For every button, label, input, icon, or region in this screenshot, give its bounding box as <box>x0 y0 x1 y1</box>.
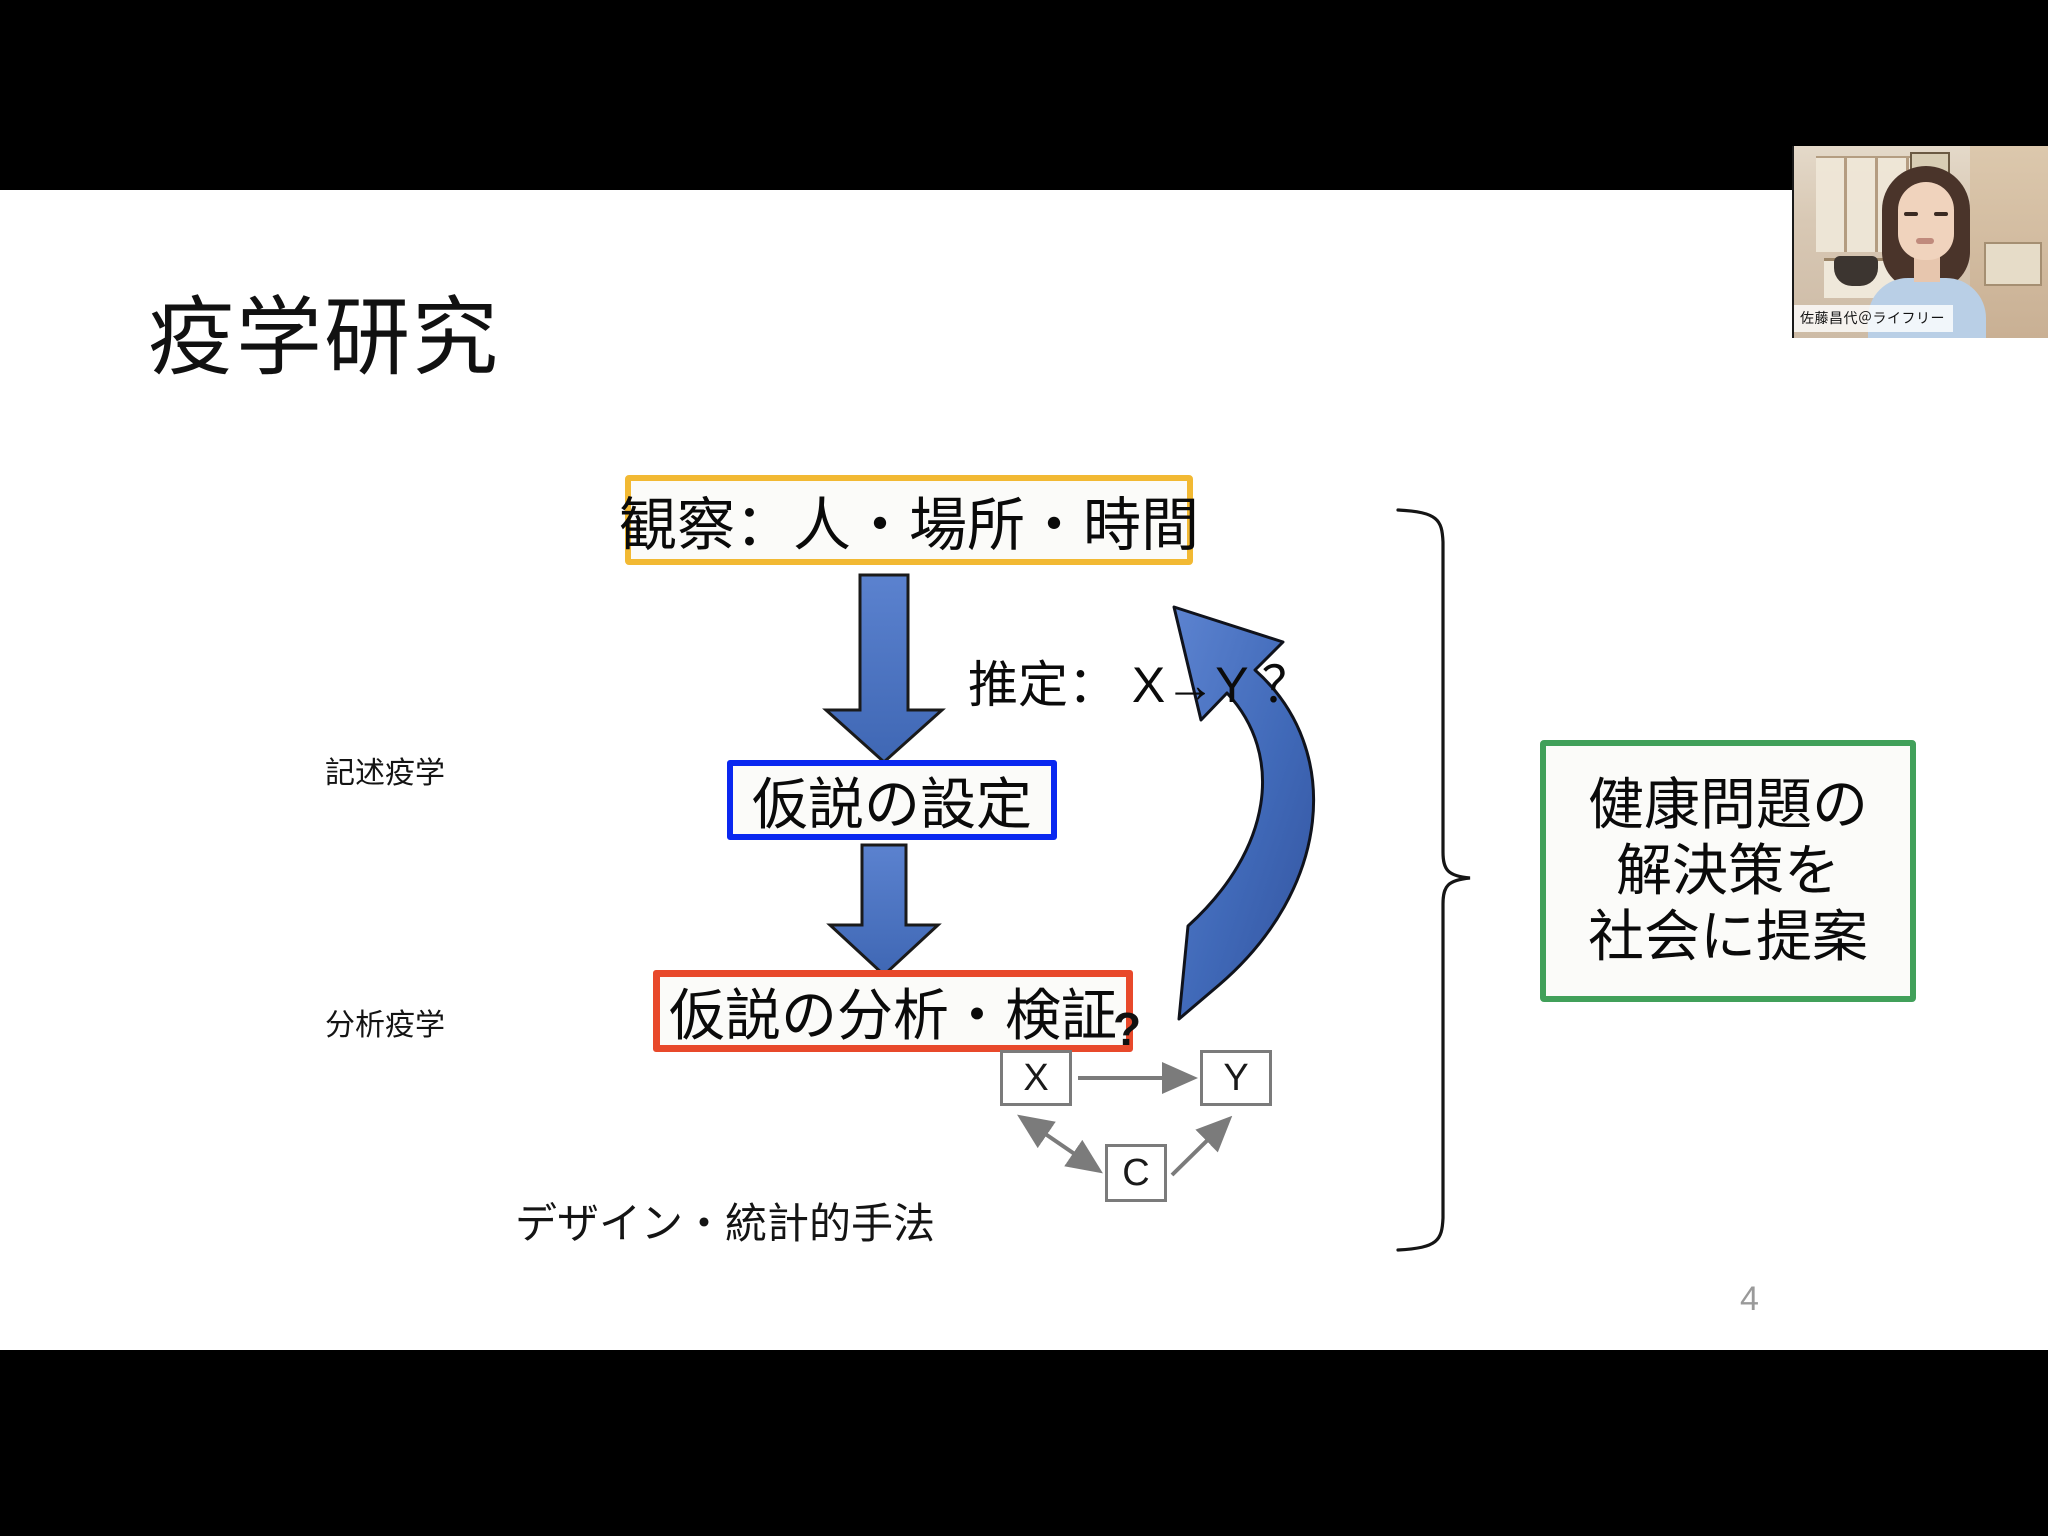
speaker-mouth <box>1916 238 1934 244</box>
label-descriptive-epidemiology: 記述疫学 <box>325 748 445 792</box>
label-analytical-epidemiology: 分析疫学 <box>325 1000 445 1044</box>
solution-line-1: 健康問題の <box>1588 772 1868 838</box>
webcam-overlay[interactable]: 佐藤昌代＠ライフリー <box>1792 146 2048 338</box>
dag-question-mark: ? <box>1113 1002 1141 1056</box>
causal-dag: X Y C ? <box>1000 1290 1250 1445</box>
inference-caption: 推定： X→Y ？ <box>968 645 1312 717</box>
slide-page-number: 4 <box>1740 1280 1759 1319</box>
solution-proposal-box: 健康問題の 解決策を 社会に提案 <box>1540 740 1916 1002</box>
dag-node-c: C <box>1105 1144 1167 1202</box>
webcam-background-shelf <box>1984 242 2042 286</box>
arrow-down-hypothesis-to-analysis <box>830 845 938 975</box>
dag-node-y: Y <box>1200 1050 1272 1106</box>
dag-node-x: X <box>1000 1050 1072 1106</box>
hypothesis-box: 仮説の設定 <box>727 760 1057 840</box>
speaker-face <box>1898 182 1954 260</box>
participant-name-label: 佐藤昌代＠ライフリー <box>1794 305 1953 332</box>
analysis-verification-box: 仮説の分析・検証 <box>653 970 1133 1052</box>
solution-line-3: 社会に提案 <box>1588 904 1868 970</box>
letterbox-top <box>0 0 2048 190</box>
grouping-brace <box>1398 510 1470 1250</box>
label-design-statistics: デザイン・統計的手法 <box>515 1190 935 1251</box>
dag-edge-x-c-bidirectional <box>1022 1118 1098 1170</box>
speaker-eye-right <box>1934 212 1948 216</box>
webcam-background-kettle <box>1834 256 1878 286</box>
observation-box: 観察：人・場所・時間 <box>625 475 1193 565</box>
screen-recording-frame: 疫学研究 <box>0 0 2048 1536</box>
arrow-down-observation-to-hypothesis <box>826 575 942 762</box>
presentation-slide: 疫学研究 <box>0 190 2048 1350</box>
solution-line-2: 解決策を <box>1616 838 1840 904</box>
dag-edge-c-to-y <box>1172 1120 1228 1175</box>
page-title: 疫学研究 <box>148 295 500 381</box>
speaker-eye-left <box>1904 212 1918 216</box>
